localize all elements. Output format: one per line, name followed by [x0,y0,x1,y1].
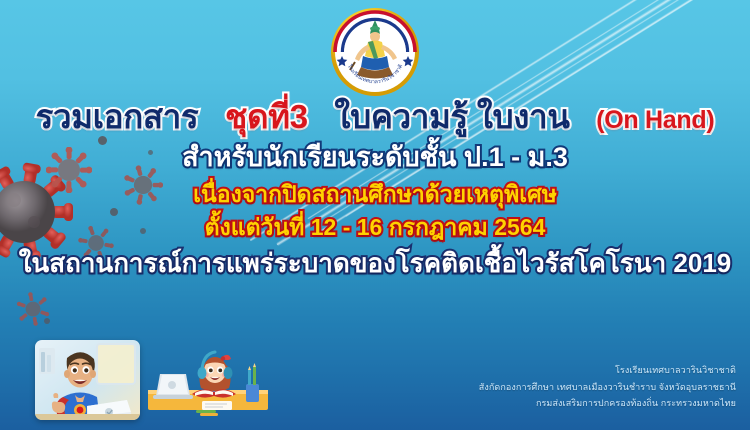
title-part-collection: รวมเอกสาร [36,98,199,135]
title-part-on-hand: (On Hand) [596,106,714,134]
girl-reading-at-desk-illustration [148,344,268,416]
headline-block: รวมเอกสาร ชุดที่3 ใบความรู้ ใบงาน (On Ha… [0,96,750,276]
credit-school-name: โรงเรียนเทศบาลวารินวิชาชาติ [479,362,736,379]
credit-affiliation: สังกัดกองการศึกษา เทศบาลเมืองวารินชำราบ … [479,379,736,396]
page-title: รวมเอกสาร ชุดที่3 ใบความรู้ ใบงาน (On Ha… [0,100,750,133]
pandemic-situation-line: ในสถานการณ์การแพร่ระบาดของโรคติดเชื้อไวร… [0,250,750,276]
poster-canvas: โรงเรียนเทศบาลวารินวิชาชาติ รวมเอกสาร ชุ… [0,0,750,430]
date-range-line: ตั้งแต่วันที่ 12 - 16 กรกฎาคม 2564 [0,216,750,239]
boy-at-laptop-photo [35,340,140,420]
school-emblem: โรงเรียนเทศบาลวารินวิชาชาติ [327,4,423,100]
grade-range-line: สำหรับนักเรียนระดับชั้น ป.1 - ม.3 [0,144,750,171]
coronavirus-particle [44,318,50,324]
credit-department: กรมส่งเสริมการปกครองท้องถิ่น กระทรวงมหาด… [479,395,736,412]
closure-reason-line: เนื่องจากปิดสถานศึกษาด้วยเหตุพิเศษ [0,183,750,206]
coronavirus-particle [16,292,50,326]
credit-block: โรงเรียนเทศบาลวารินวิชาชาติ สังกัดกองการ… [479,362,736,412]
title-part-set: ชุดที่3 [225,98,308,135]
title-part-worksheets: ใบความรู้ ใบงาน [334,98,569,135]
